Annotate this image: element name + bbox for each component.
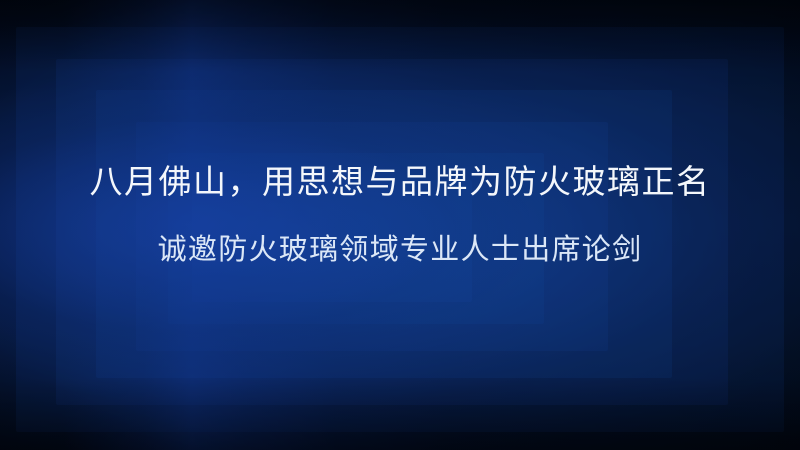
headline-block: 八月佛山，用思想与品牌为防火玻璃正名 诚邀防火玻璃领域专业人士出席论剑 [0, 160, 800, 270]
headline-primary: 八月佛山，用思想与品牌为防火玻璃正名 [0, 160, 800, 204]
headline-secondary: 诚邀防火玻璃领域专业人士出席论剑 [0, 228, 800, 270]
title-slide: 八月佛山，用思想与品牌为防火玻璃正名 诚邀防火玻璃领域专业人士出席论剑 [0, 0, 800, 450]
